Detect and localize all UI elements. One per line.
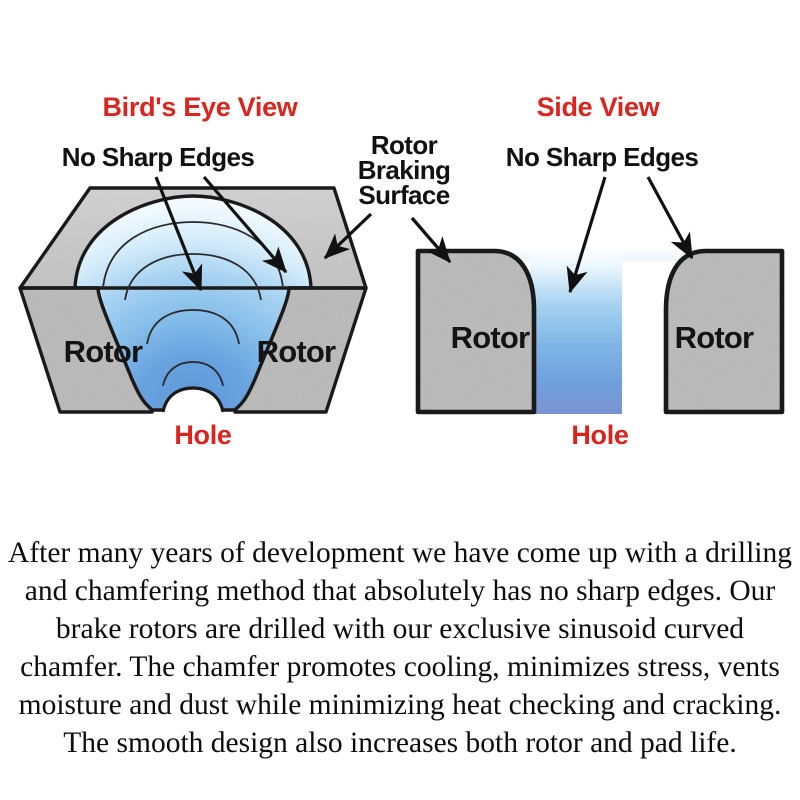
left-no-sharp-edges-label: No Sharp Edges xyxy=(62,142,255,172)
body-line-0: After many years of development we have … xyxy=(8,537,792,569)
side-view-group: Side View No Sharp Edges Rotor Rotor Hol… xyxy=(412,92,782,450)
rotor-chamfer-illustration: Bird's Eye View No Sharp Edges Rotor Bra… xyxy=(0,0,800,800)
body-line-4: moisture and dust while minimizing heat … xyxy=(19,689,782,721)
hole-label-birdseye: Hole xyxy=(174,420,232,450)
body-line-5: The smooth design also increases both ro… xyxy=(63,727,736,759)
body-line-3: chamfer. The chamfer promotes cooling, m… xyxy=(20,651,780,683)
body-paragraph: After many years of development we have … xyxy=(8,537,792,759)
body-line-2: brake rotors are drilled with our exclus… xyxy=(56,613,744,645)
figure-root: Bird's Eye View No Sharp Edges Rotor Bra… xyxy=(0,0,800,800)
braking-surface-label-line3: Surface xyxy=(358,180,449,210)
side-view-title: Side View xyxy=(537,92,661,122)
rotor-label-right-sideview: Rotor xyxy=(675,320,754,355)
side-view-rotor-left: Rotor xyxy=(418,251,534,412)
hole-label-sideview: Hole xyxy=(571,420,629,450)
birds-eye-view-group: Bird's Eye View No Sharp Edges Rotor Bra… xyxy=(20,92,450,450)
body-line-1: and chamfering method that absolutely ha… xyxy=(25,575,776,607)
rotor-label-right-birdseye: Rotor xyxy=(257,334,336,369)
rotor-label-left-sideview: Rotor xyxy=(451,320,530,355)
right-no-sharp-edges-label: No Sharp Edges xyxy=(506,142,699,172)
side-view-rotor-right: Rotor xyxy=(666,251,782,412)
birds-eye-view-title: Bird's Eye View xyxy=(102,92,298,122)
rotor-label-left-birdseye: Rotor xyxy=(64,334,143,369)
